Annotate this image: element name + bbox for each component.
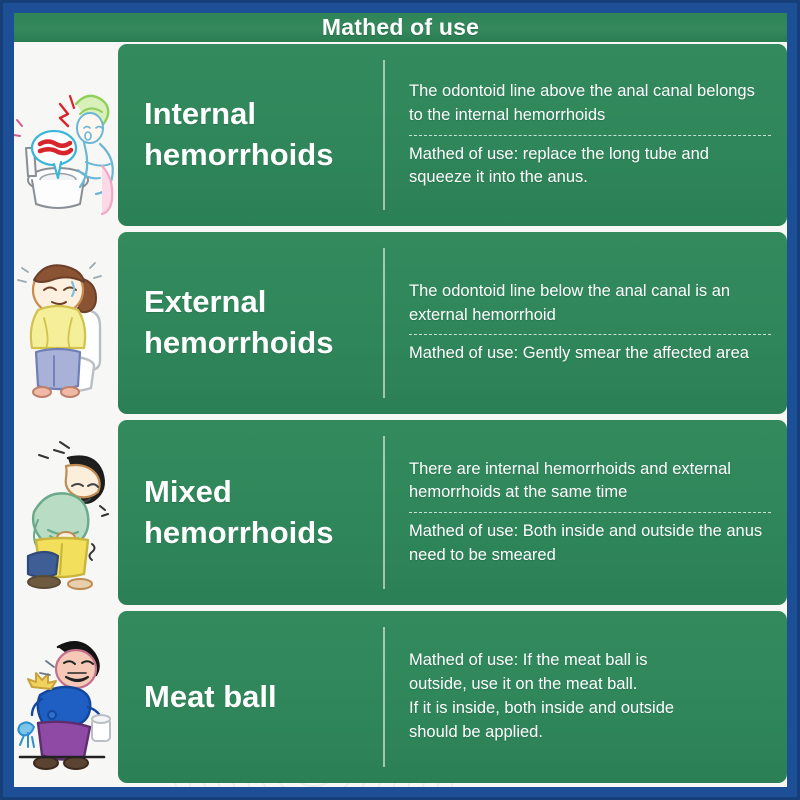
row-card[interactable]: Internal hemorrhoids The odontoid line a… bbox=[118, 44, 787, 226]
poster-frame: Mathed of use bbox=[0, 0, 800, 800]
row-description: There are internal hemorrhoids and exter… bbox=[409, 458, 771, 506]
table-row: Mixed hemorrhoids There are internal hem… bbox=[14, 420, 787, 605]
row-title-line1: Internal bbox=[144, 96, 256, 131]
row-method-line3: If it is inside, both inside and outside bbox=[409, 699, 674, 717]
row-method: Mathed of use: Both inside and outside t… bbox=[409, 520, 771, 568]
row-title-line2: hemorrhoids bbox=[144, 137, 333, 172]
row-card[interactable]: Meat ball Mathed of use: If the meat bal… bbox=[118, 611, 787, 783]
dashed-divider bbox=[409, 512, 771, 513]
row-title-line1: Meat ball bbox=[144, 677, 277, 718]
row-title-line2: hemorrhoids bbox=[144, 325, 333, 360]
row-method: Mathed of use: If the meat ball isoutsid… bbox=[409, 649, 771, 745]
row-description: The odontoid line below the anal canal i… bbox=[409, 280, 771, 328]
row-body: The odontoid line above the anal canal b… bbox=[385, 44, 787, 226]
dashed-divider bbox=[409, 135, 771, 136]
row-method-line2: outside, use it on the meat ball. bbox=[409, 675, 637, 693]
row-method: Mathed of use: replace the long tube and… bbox=[409, 143, 771, 191]
row-title: External hemorrhoids bbox=[118, 232, 383, 414]
row-method-line4: should be applied. bbox=[409, 723, 543, 741]
table-row: Internal hemorrhoids The odontoid line a… bbox=[14, 44, 787, 226]
rows-container: Internal hemorrhoids The odontoid line a… bbox=[14, 42, 787, 787]
poster-content: Mathed of use bbox=[14, 13, 787, 787]
row-description: The odontoid line above the anal canal b… bbox=[409, 80, 771, 128]
row-method-line1: Mathed of use: If the meat ball is bbox=[409, 651, 647, 669]
row-title: Meat ball bbox=[118, 611, 383, 783]
row-title: Mixed hemorrhoids bbox=[118, 420, 383, 605]
man-with-toilet-paper-icon bbox=[14, 611, 118, 783]
table-row: External hemorrhoids The odontoid line b… bbox=[14, 232, 787, 414]
header-bar: Mathed of use bbox=[14, 13, 787, 42]
dashed-divider bbox=[409, 334, 771, 335]
row-title-line1: Mixed bbox=[144, 474, 232, 509]
row-body: Mathed of use: If the meat ball isoutsid… bbox=[385, 611, 787, 783]
row-card[interactable]: External hemorrhoids The odontoid line b… bbox=[118, 232, 787, 414]
woman-sitting-on-toilet-icon bbox=[14, 232, 118, 414]
row-card[interactable]: Mixed hemorrhoids There are internal hem… bbox=[118, 420, 787, 605]
table-row: Meat ball Mathed of use: If the meat bal… bbox=[14, 611, 787, 783]
row-title-line2: hemorrhoids bbox=[144, 515, 333, 550]
row-title-line1: External bbox=[144, 284, 266, 319]
row-method: Mathed of use: Gently smear the affected… bbox=[409, 342, 771, 366]
woman-at-toilet-bleeding-icon bbox=[14, 44, 118, 226]
page-title: Mathed of use bbox=[322, 14, 479, 41]
row-title: Internal hemorrhoids bbox=[118, 44, 383, 226]
row-body: There are internal hemorrhoids and exter… bbox=[385, 420, 787, 605]
man-hunched-in-pain-icon bbox=[14, 420, 118, 605]
row-body: The odontoid line below the anal canal i… bbox=[385, 232, 787, 414]
